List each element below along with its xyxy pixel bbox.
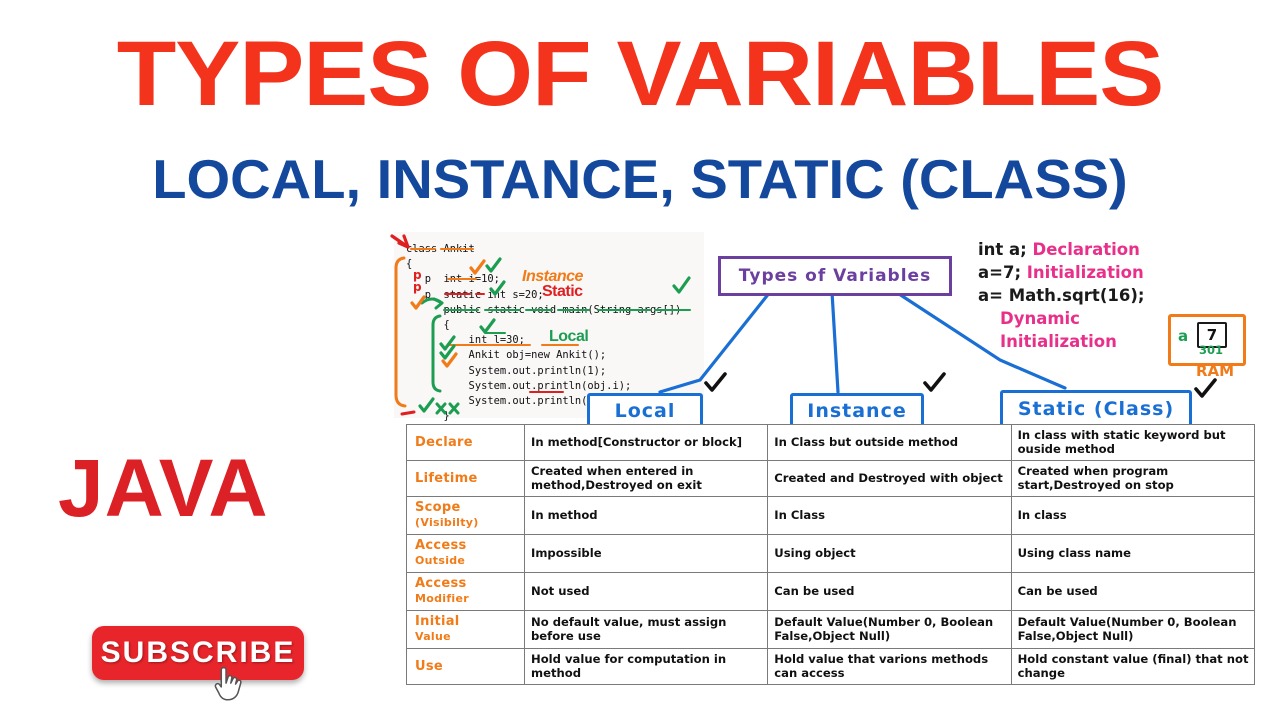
cell-scope-local: In method <box>525 497 768 535</box>
note-line-1: int a; Declaration <box>978 238 1278 261</box>
cell-declare-instance: In Class but outside method <box>768 425 1011 461</box>
subscribe-area: SUBSCRIBE <box>92 626 304 680</box>
cell-scope-instance: In Class <box>768 497 1011 535</box>
row-label-text: Use <box>415 659 443 674</box>
table-row: Initial Value No default value, must ass… <box>407 611 1255 649</box>
table-row: Declare In method[Constructor or block] … <box>407 425 1255 461</box>
note-2-code: a=7; <box>978 263 1021 282</box>
row-label-text: Initial <box>415 614 460 629</box>
cell-access-modifier-local: Not used <box>525 573 768 611</box>
note-1-label: Declaration <box>1033 240 1140 259</box>
row-label-text: Access <box>415 576 467 591</box>
tree-leaf-instance: Instance <box>790 393 924 428</box>
row-label-declare: Declare <box>407 425 525 461</box>
cell-lifetime-local: Created when entered in method,Destroyed… <box>525 461 768 497</box>
row-label-lifetime: Lifetime <box>407 461 525 497</box>
ram-memory-box: a 7 301 <box>1168 314 1246 366</box>
subscribe-button[interactable]: SUBSCRIBE <box>92 626 304 680</box>
row-label-scope: Scope (Visibilty) <box>407 497 525 535</box>
cell-access-outside-instance: Using object <box>768 535 1011 573</box>
row-sublabel-text: (Visibilty) <box>415 515 519 530</box>
cell-initial-value-local: No default value, must assign before use <box>525 611 768 649</box>
tree-leaf-static: Static (Class) <box>1000 390 1192 427</box>
table-row: Access Outside Impossible Using object U… <box>407 535 1255 573</box>
comparison-table: Declare In method[Constructor or block] … <box>406 424 1255 685</box>
row-label-text: Lifetime <box>415 471 478 486</box>
annotation-static: Static <box>542 283 583 301</box>
annotation-local: Local <box>549 328 588 346</box>
table-row: Use Hold value for computation in method… <box>407 649 1255 685</box>
row-sublabel-text: Modifier <box>415 591 519 606</box>
note-line-2: a=7; Initialization <box>978 261 1278 284</box>
cell-access-outside-static: Using class name <box>1011 535 1254 573</box>
cursor-hand-icon <box>207 664 247 706</box>
page-subtitle: LOCAL, INSTANCE, STATIC (CLASS) <box>0 152 1280 207</box>
row-sublabel-text: Value <box>415 629 519 644</box>
row-label-access-outside: Access Outside <box>407 535 525 573</box>
cell-scope-static: In class <box>1011 497 1254 535</box>
cell-initial-value-static: Default Value(Number 0, Boolean False,Ob… <box>1011 611 1254 649</box>
row-label-text: Declare <box>415 435 473 450</box>
cell-use-instance: Hold value that varions methods can acce… <box>768 649 1011 685</box>
table-body: Declare In method[Constructor or block] … <box>407 425 1255 685</box>
cell-access-modifier-instance: Can be used <box>768 573 1011 611</box>
page-title: TYPES OF VARIABLES <box>0 28 1280 120</box>
ram-address: 301 <box>1199 343 1223 357</box>
note-2-label: Initialization <box>1027 263 1144 282</box>
cell-lifetime-static: Created when program start,Destroyed on … <box>1011 461 1254 497</box>
ram-variable-name: a <box>1178 327 1188 345</box>
slide-root: TYPES OF VARIABLES LOCAL, INSTANCE, STAT… <box>0 0 1280 720</box>
cell-use-local: Hold value for computation in method <box>525 649 768 685</box>
row-label-text: Access <box>415 538 467 553</box>
cell-use-static: Hold constant value (final) that not cha… <box>1011 649 1254 685</box>
table-row: Scope (Visibilty) In method In Class In … <box>407 497 1255 535</box>
row-label-text: Scope <box>415 500 461 515</box>
row-label-initial-value: Initial Value <box>407 611 525 649</box>
note-3-code: a= Math.sqrt(16); <box>978 284 1278 307</box>
tree-root-types-of-variables: Types of Variables <box>718 256 952 296</box>
table-row: Access Modifier Not used Can be used Can… <box>407 573 1255 611</box>
table-row: Lifetime Created when entered in method,… <box>407 461 1255 497</box>
note-1-code: int a; <box>978 240 1027 259</box>
ram-label: RAM <box>1196 362 1234 380</box>
tree-leaf-local: Local <box>587 393 703 428</box>
row-sublabel-text: Outside <box>415 553 519 568</box>
cell-access-modifier-static: Can be used <box>1011 573 1254 611</box>
cell-declare-local: In method[Constructor or block] <box>525 425 768 461</box>
code-panel: class Ankit { p int i=10; p static int s… <box>394 232 704 418</box>
row-label-use: Use <box>407 649 525 685</box>
cell-lifetime-instance: Created and Destroyed with object <box>768 461 1011 497</box>
cell-access-outside-local: Impossible <box>525 535 768 573</box>
cell-initial-value-instance: Default Value(Number 0, Boolean False,Ob… <box>768 611 1011 649</box>
cell-declare-static: In class with static keyword but ouside … <box>1011 425 1254 461</box>
row-label-access-modifier: Access Modifier <box>407 573 525 611</box>
language-label: JAVA <box>58 448 269 530</box>
